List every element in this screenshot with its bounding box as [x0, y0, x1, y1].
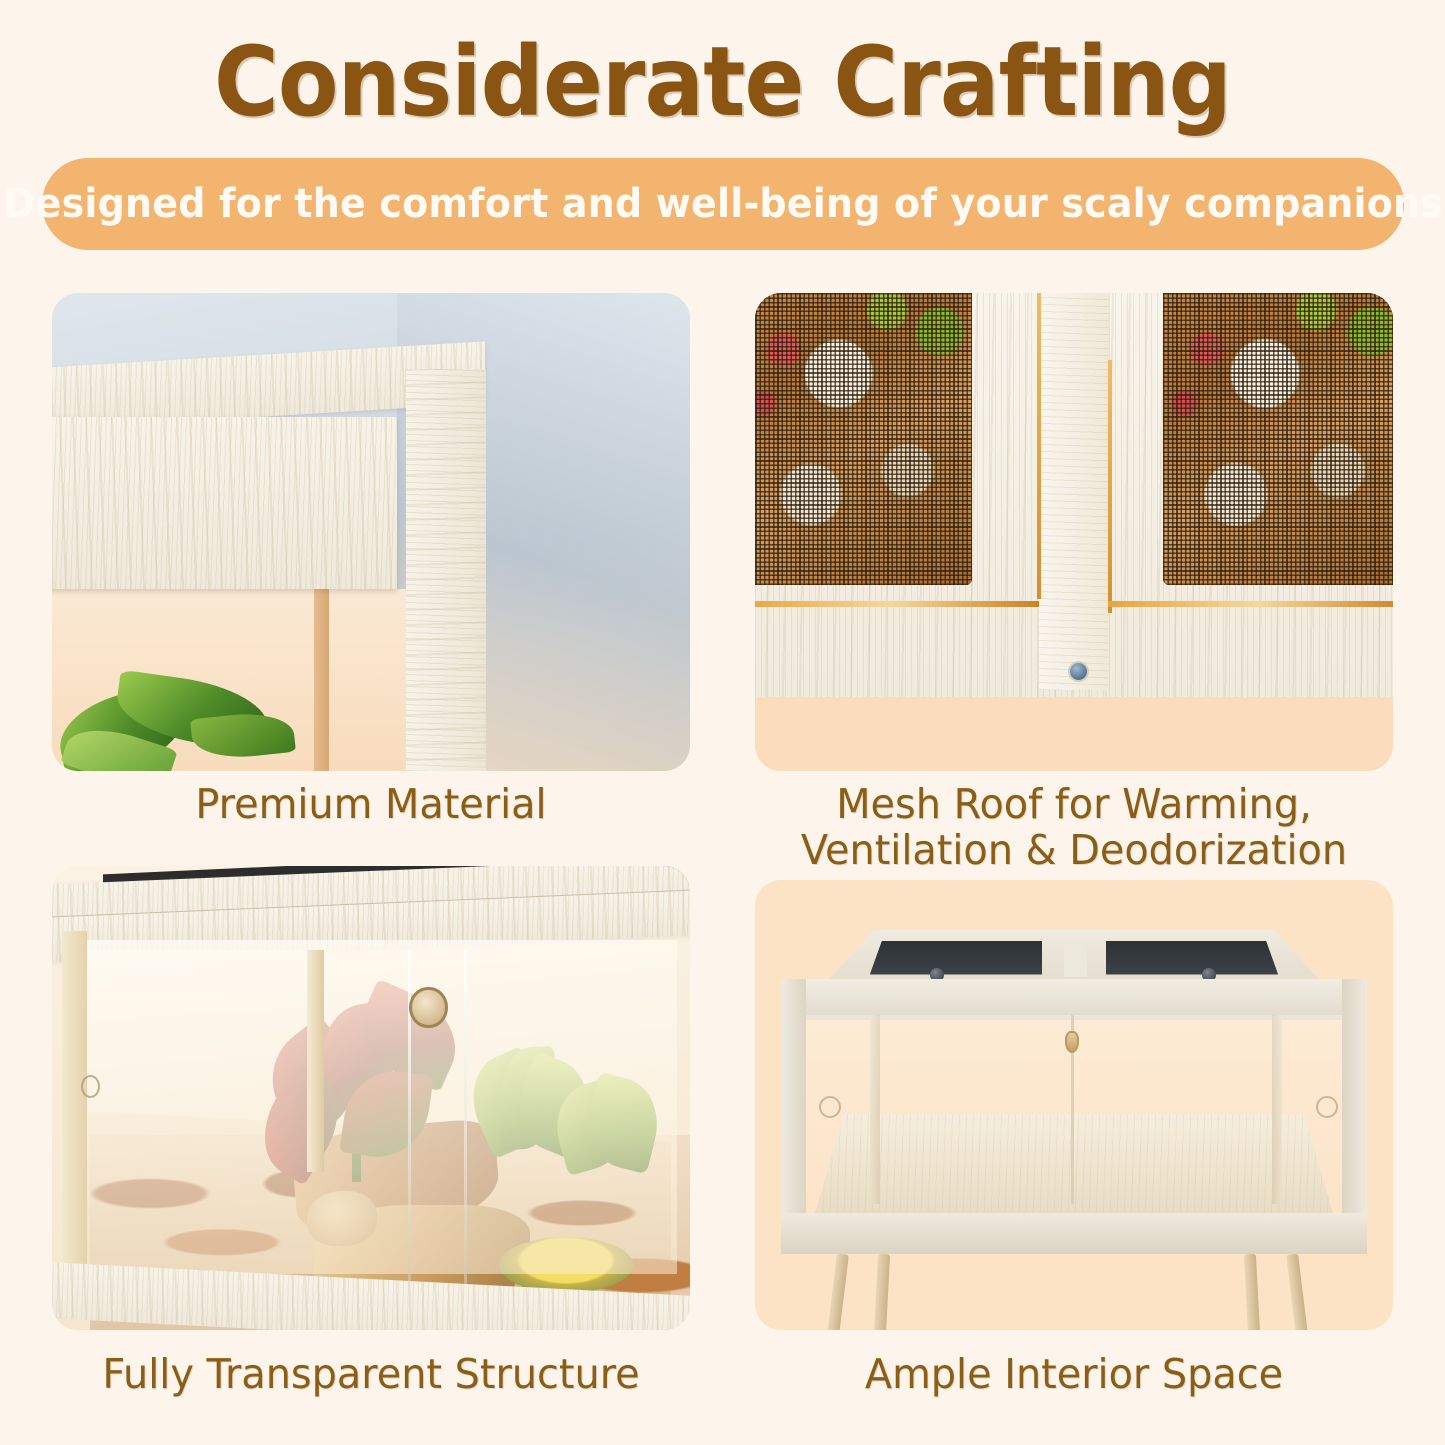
mesh-panel-right	[1163, 293, 1393, 585]
caption-line-2: Ventilation & Deodorization	[745, 828, 1403, 874]
wood-base-rail	[781, 1213, 1368, 1254]
wood-corner-post	[406, 369, 486, 771]
transparent-structure-photo	[52, 866, 690, 1330]
ample-interior-photo	[755, 880, 1393, 1330]
wood-center-rail	[1039, 293, 1109, 690]
wood-left-wall	[781, 979, 807, 1236]
caption-line-1: Mesh Roof for Warming,	[745, 782, 1403, 828]
wood-mid-post	[307, 950, 324, 1173]
mesh-panel-left	[870, 941, 1042, 975]
gold-trim-line	[1037, 293, 1041, 599]
screw-icon	[1070, 663, 1087, 680]
feature-caption-ample-interior-space: Ample Interior Space	[765, 1352, 1384, 1398]
feature-card-transparent-structure	[52, 866, 690, 1330]
subtitle-banner: Designed for the comfort and well-being …	[42, 158, 1404, 250]
gold-trim-line	[755, 601, 1039, 607]
peach-background-strip	[755, 697, 1393, 771]
vent-ring-icon	[819, 1096, 841, 1118]
feature-caption-premium-material: Premium Material	[62, 782, 681, 828]
wood-front-panel	[52, 417, 397, 589]
door-handle-icon	[81, 1075, 100, 1098]
gold-trim-line	[1108, 601, 1393, 607]
subtitle-text: Designed for the comfort and well-being …	[3, 181, 1442, 227]
interior-wood-post	[314, 589, 329, 771]
wood-corner-post	[62, 931, 88, 1274]
latch-icon	[1065, 1031, 1079, 1053]
glass-door-seam	[464, 950, 467, 1284]
gold-trim-line	[1108, 360, 1112, 613]
wood-right-wall	[1342, 979, 1368, 1236]
mesh-panel-right	[1106, 941, 1278, 975]
wood-front-rail	[781, 979, 1368, 1020]
feature-card-premium-material	[52, 293, 690, 771]
glass-front-panel	[65, 940, 677, 1274]
premium-material-photo	[52, 293, 690, 771]
feature-caption-mesh-roof: Mesh Roof for Warming, Ventilation & Deo…	[745, 782, 1403, 874]
top-panel-gap	[1064, 939, 1086, 977]
feature-card-mesh-roof	[755, 293, 1393, 771]
mesh-panel-left	[755, 293, 972, 585]
mesh-roof-photo	[755, 293, 1393, 771]
thermometer-icon	[409, 987, 447, 1029]
mesh-grid-icon	[755, 293, 972, 585]
feature-caption-transparent-structure: Fully Transparent Structure	[62, 1352, 681, 1398]
page-title: Considerate Crafting	[58, 26, 1387, 139]
feature-card-ample-interior-space	[755, 880, 1393, 1330]
mesh-grid-icon	[1163, 293, 1393, 585]
